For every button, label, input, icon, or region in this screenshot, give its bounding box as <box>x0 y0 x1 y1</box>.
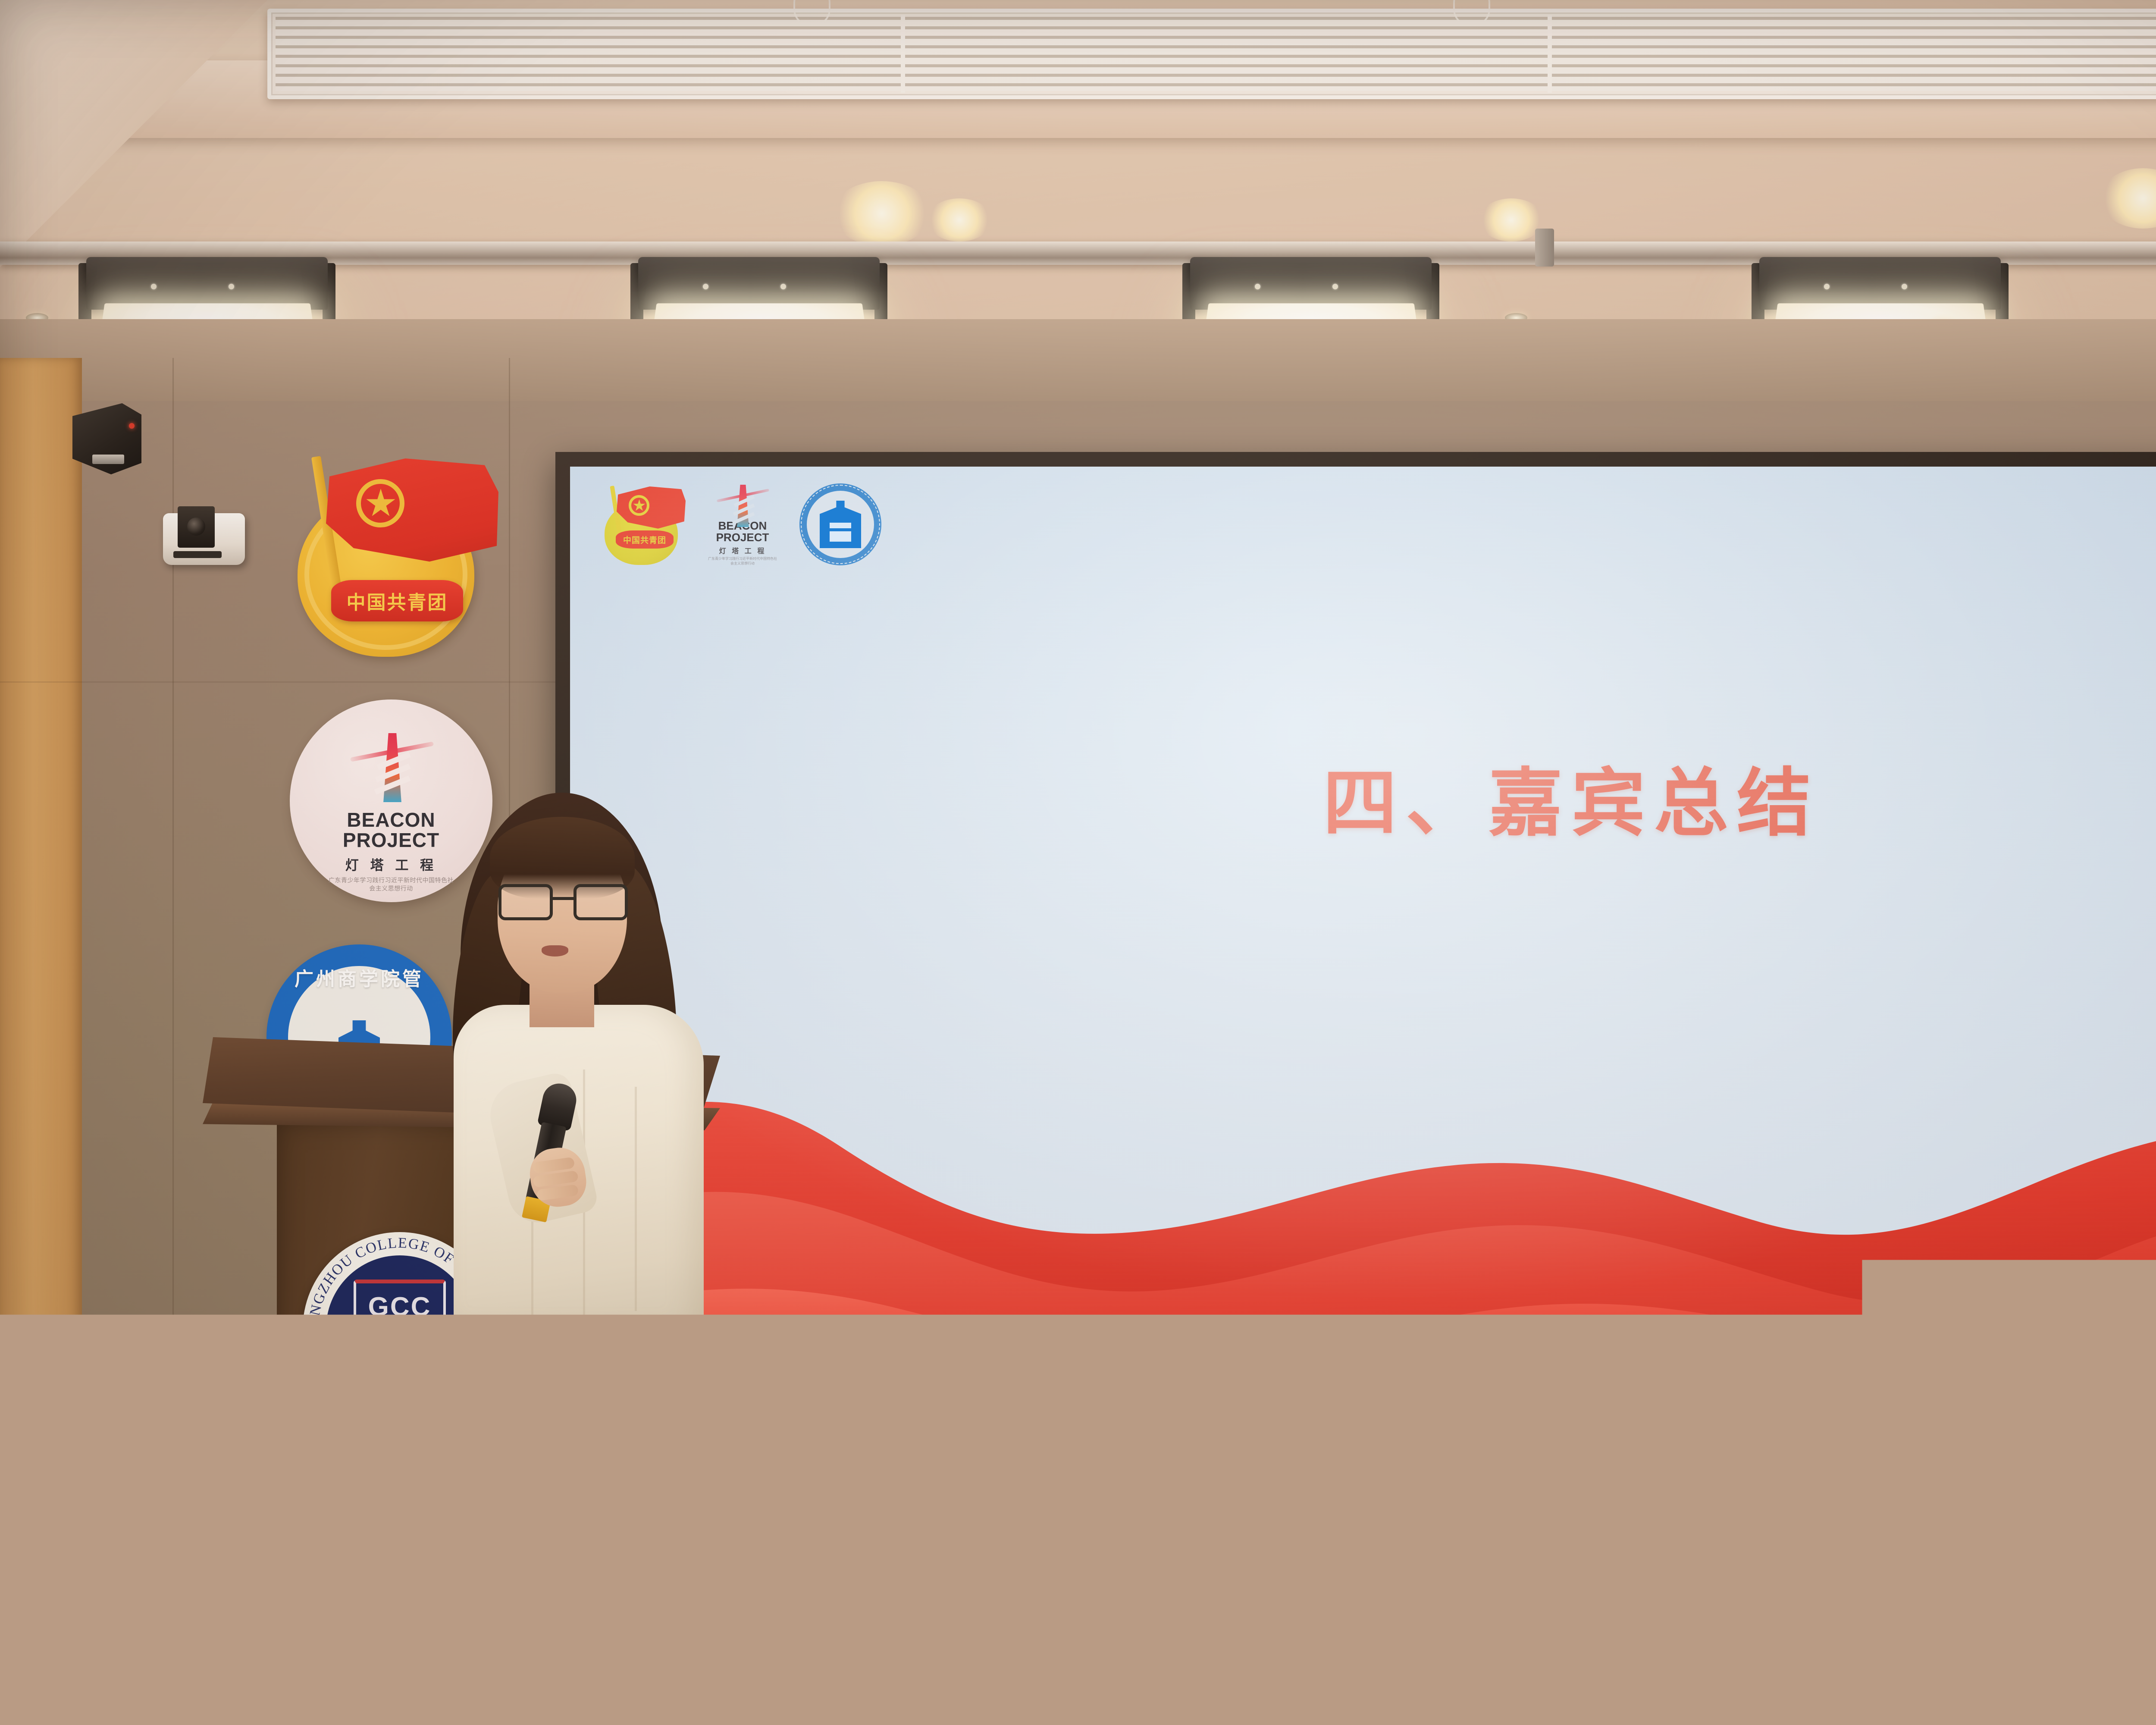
led-screen[interactable]: 中国共青团 BEACON PROJECT 灯 塔 工 <box>570 467 2156 1425</box>
ceiling-downlight <box>832 181 931 246</box>
skirt-pleat <box>630 1311 632 1652</box>
wood-wall-panel <box>0 358 82 1445</box>
light-bolt <box>703 284 708 289</box>
glasses-right-lens <box>573 884 628 920</box>
light-bolt <box>780 284 786 289</box>
logo-banner-text: 中国共青团 <box>623 534 666 546</box>
slide-title: 四、嘉宾总结 <box>570 743 2156 850</box>
speaker-shoe <box>548 1689 605 1710</box>
emblem-banner-text: 中国共青团 <box>347 587 448 615</box>
light-housing <box>638 257 880 310</box>
blouse-fold <box>635 1087 637 1311</box>
vent-divider <box>901 15 905 93</box>
seal-glyph-bar <box>830 528 851 532</box>
skirt-pleat <box>673 1311 675 1652</box>
seal-glyph-inner <box>830 523 851 542</box>
eyeglasses-icon <box>498 884 628 920</box>
light-bolt <box>1255 284 1260 289</box>
light-bolt <box>1332 284 1338 289</box>
light-bolt <box>151 284 157 289</box>
slide-youth-league-logo: 中国共青团 <box>597 484 686 565</box>
skirt-pleat <box>578 1311 580 1652</box>
logo-banner: 中国共青团 <box>616 530 674 549</box>
wall-youth-league-emblem: 中国共青团 <box>285 451 509 662</box>
truss-clamp <box>1535 229 1554 267</box>
light-bolt <box>1824 284 1830 289</box>
wall-upper-band <box>0 319 2156 401</box>
beacon-subtitle: 广东青少年学习践行习近平新时代中国特色社会主义思想行动 <box>708 557 777 566</box>
light-housing <box>1759 257 2001 310</box>
light-housing <box>1190 257 1432 310</box>
speaker-grille <box>92 455 124 464</box>
slide-logo-strip: 中国共青团 BEACON PROJECT 灯 塔 工 <box>597 483 881 566</box>
surveillance-camera <box>163 513 245 565</box>
slide-red-silk-waves <box>570 1037 2156 1425</box>
ac-vent-grille <box>267 9 2156 99</box>
glasses-left-lens <box>498 884 553 920</box>
light-bolt <box>229 284 234 289</box>
speaker-mouth <box>542 945 568 957</box>
emblem-banner: 中国共青团 <box>331 580 463 621</box>
vent-slats <box>276 17 2156 91</box>
light-housing <box>86 257 328 310</box>
skirt-pleat <box>526 1311 528 1652</box>
speaker-skirt <box>487 1311 703 1656</box>
hand-finger <box>536 1184 579 1201</box>
glasses-bridge <box>553 897 573 900</box>
light-bolt <box>1902 284 1907 289</box>
slide-beacon-project-logo: BEACON PROJECT 灯 塔 工 程 广东青少年学习践行习近平新时代中国… <box>705 483 780 566</box>
stage-photo-scene: 中国共青团 BEACON PROJECT 灯 塔 工 程 广东青少年学习践行习近… <box>0 0 2156 1725</box>
podium-caster <box>275 1627 304 1663</box>
speaker-at-podium <box>414 781 733 1686</box>
ceiling-downlight <box>927 198 992 241</box>
led-screen-frame: 中国共青团 BEACON PROJECT 灯 塔 工 <box>555 452 2156 1440</box>
camera-vent-slot <box>173 551 222 558</box>
beacon-lighthouse-icon <box>719 483 766 517</box>
speaker-power-led <box>129 423 135 429</box>
vent-divider <box>1548 15 1552 93</box>
slide-college-seal-logo <box>799 483 881 565</box>
waves-svg <box>570 1037 2156 1425</box>
camera-lens <box>187 517 205 536</box>
camera-lens-housing <box>178 506 215 548</box>
ceiling-downlight <box>1479 198 1544 241</box>
beacon-chinese-name: 灯 塔 工 程 <box>719 545 766 555</box>
